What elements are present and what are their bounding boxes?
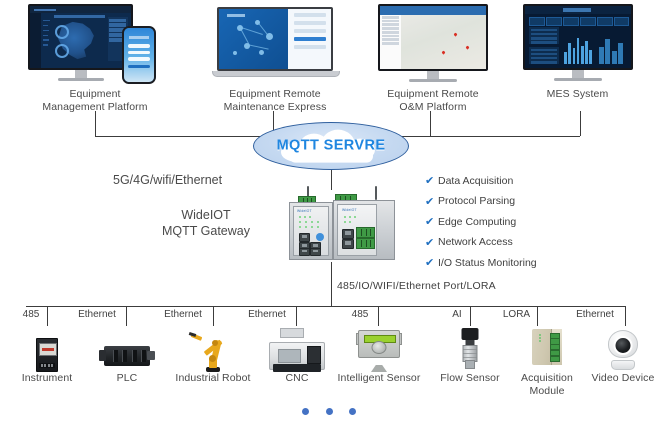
monitor-map-illustration [378,4,488,82]
acquisition-module-icon [508,328,586,372]
platform-caption-line1: MES System [505,88,650,101]
check-icon: ✔ [425,236,438,249]
device-caption: PLC [117,372,138,384]
field-drop-7 [537,306,538,326]
protocol-label: LORA [498,309,535,320]
laptop-illustration [212,7,338,77]
screen-content-maintenance-express [219,9,331,69]
intelligent-sensor-icon [336,328,422,372]
check-icon: ✔ [425,195,438,208]
platform-caption-line2: Maintenance Express [190,101,360,114]
screen-content-management-platform [30,6,131,68]
device-node-instrument[interactable]: Instrument [8,328,86,385]
pagination-dot[interactable] [349,408,356,415]
device-node-flow-sensor[interactable]: Flow Sensor [432,328,508,385]
check-icon: ✔ [425,174,438,187]
pagination-dot[interactable] [326,408,333,415]
field-drop-6 [470,306,471,326]
instrument-icon [8,328,86,372]
flow-sensor-icon [432,328,508,372]
device-node-industrial-robot[interactable]: Industrial Robot [170,328,256,385]
feature-label: I/O Status Monitoring [438,257,537,269]
device-caption: Flow Sensor [440,372,499,384]
mqtt-gateway-device[interactable]: WideIOT WideIOT [283,186,401,260]
device-caption: CNC [285,372,308,384]
protocol-label: Ethernet [156,309,210,320]
device-node-intelligent-sensor[interactable]: Intelligent Sensor [336,328,422,385]
antenna-right [375,186,377,200]
field-drop-4 [296,306,297,326]
device-caption: Acquisition [508,372,586,385]
gateway-left-face: WideIOT [293,206,329,256]
feature-label: Network Access [438,236,513,248]
cnc-icon [258,328,336,372]
field-drop-3 [213,306,214,326]
feature-item: ✔ Protocol Parsing [425,195,625,208]
gateway-name-label: WideIOT MQTT Gateway [146,207,266,239]
top-bus-drop-3 [430,111,431,136]
device-node-plc[interactable]: PLC [88,328,166,385]
check-icon: ✔ [425,215,438,228]
monitor-dashboard-illustration [523,4,633,81]
screen-content-om-platform [380,6,486,69]
platform-caption-line1: Equipment Remote [358,88,508,101]
feature-label: Protocol Parsing [438,195,515,207]
protocol-label: Ethernet [240,309,294,320]
device-node-video-device[interactable]: Video Device [588,328,658,385]
field-drop-1 [47,306,48,326]
phone-illustration [122,26,156,84]
mqtt-server-node[interactable]: MQTT SERVRE [253,122,409,170]
platform-caption-line1: Equipment [10,88,180,101]
top-bus-drop-4 [580,111,581,136]
protocol-label: Ethernet [568,309,622,320]
device-caption: Intelligent Sensor [338,372,421,384]
field-drop-8 [625,306,626,326]
gateway-feature-list: ✔ Data Acquisition ✔ Protocol Parsing ✔ … [425,174,625,277]
industrial-robot-icon [170,328,256,372]
feature-item: ✔ Network Access [425,236,625,249]
check-icon: ✔ [425,256,438,269]
protocol-label: 485 [345,309,375,320]
gateway-right-face: WideIOT [337,204,377,256]
device-node-cnc[interactable]: CNC [258,328,336,385]
pagination-dots[interactable] [0,402,658,420]
screen-content-mes-dashboard [525,6,631,68]
field-drop-5 [378,306,379,326]
device-caption-line2: Module [508,385,586,398]
gateway-to-fieldbus-line [331,262,332,306]
gateway-name-line1: WideIOT [146,207,266,223]
mqtt-server-label: MQTT SERVRE [253,138,409,154]
feature-label: Data Acquisition [438,175,513,187]
platform-caption-line2: O&M Platform [358,101,508,114]
protocol-label: Ethernet [70,309,124,320]
platform-caption-line1: Equipment Remote [190,88,360,101]
fieldbus-protocols-label: 485/IO/WIFI/Ethernet Port/LORA [337,280,496,292]
pagination-dot[interactable] [302,408,309,415]
protocol-label: 485 [16,309,46,320]
device-caption: Industrial Robot [175,372,250,384]
monitor-illustration [28,4,133,81]
device-caption: Instrument [22,372,73,384]
network-types-label: 5G/4G/wifi/Ethernet [113,173,222,187]
device-caption: Video Device [592,372,655,384]
feature-item: ✔ Edge Computing [425,215,625,228]
feature-item: ✔ Data Acquisition [425,174,625,187]
field-drop-2 [126,306,127,326]
field-bus-line [26,306,625,307]
iot-architecture-diagram: Equipment Management Platform [0,0,658,428]
plc-icon [88,328,166,372]
protocol-label: AI [446,309,468,320]
gateway-name-line2: MQTT Gateway [146,223,266,239]
device-node-acquisition-module[interactable]: Acquisition Module [508,328,586,397]
feature-item: ✔ I/O Status Monitoring [425,256,625,269]
video-device-icon [588,328,658,372]
top-bus-drop-1 [95,111,96,136]
feature-label: Edge Computing [438,216,516,228]
